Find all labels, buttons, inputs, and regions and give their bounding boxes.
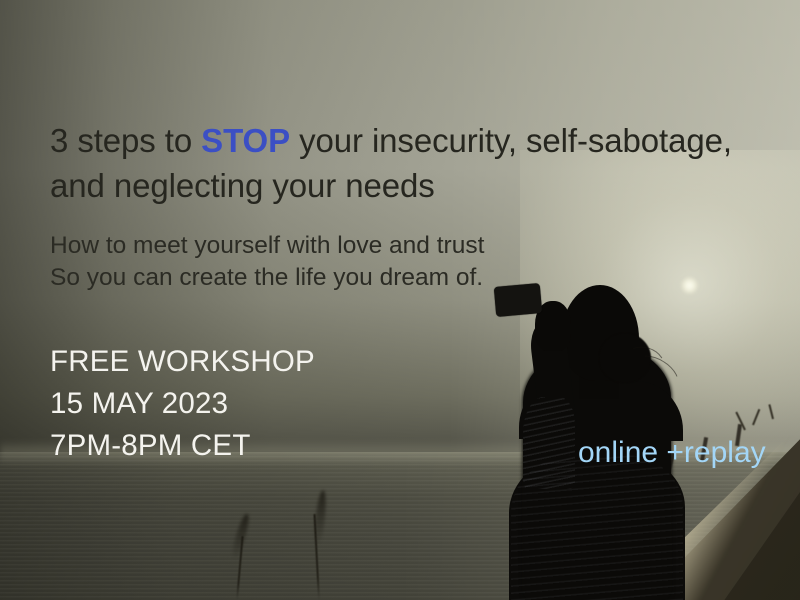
page-title: 3 steps to STOP your insecurity, self-sa… — [50, 118, 750, 208]
subheadline-line-2: So you can create the life you dream of. — [50, 264, 483, 291]
subheadline-line-1: How to meet yourself with love and trust — [50, 232, 484, 259]
subheadline: How to meet yourself with love and trust… — [50, 230, 610, 294]
event-details: FREE WORKSHOP 15 MAY 2023 7PM-8PM CET — [50, 341, 470, 467]
headline-emphasis: STOP — [201, 122, 290, 159]
status-badge: online +replay — [578, 435, 766, 471]
event-type: FREE WORKSHOP — [50, 345, 315, 378]
headline-before: 3 steps to — [50, 122, 201, 159]
event-date: 15 MAY 2023 — [50, 387, 228, 420]
event-time: 7PM-8PM CET — [50, 429, 251, 462]
sleeve-knit-texture — [523, 397, 575, 489]
promo-poster: 3 steps to STOP your insecurity, self-sa… — [0, 0, 800, 600]
